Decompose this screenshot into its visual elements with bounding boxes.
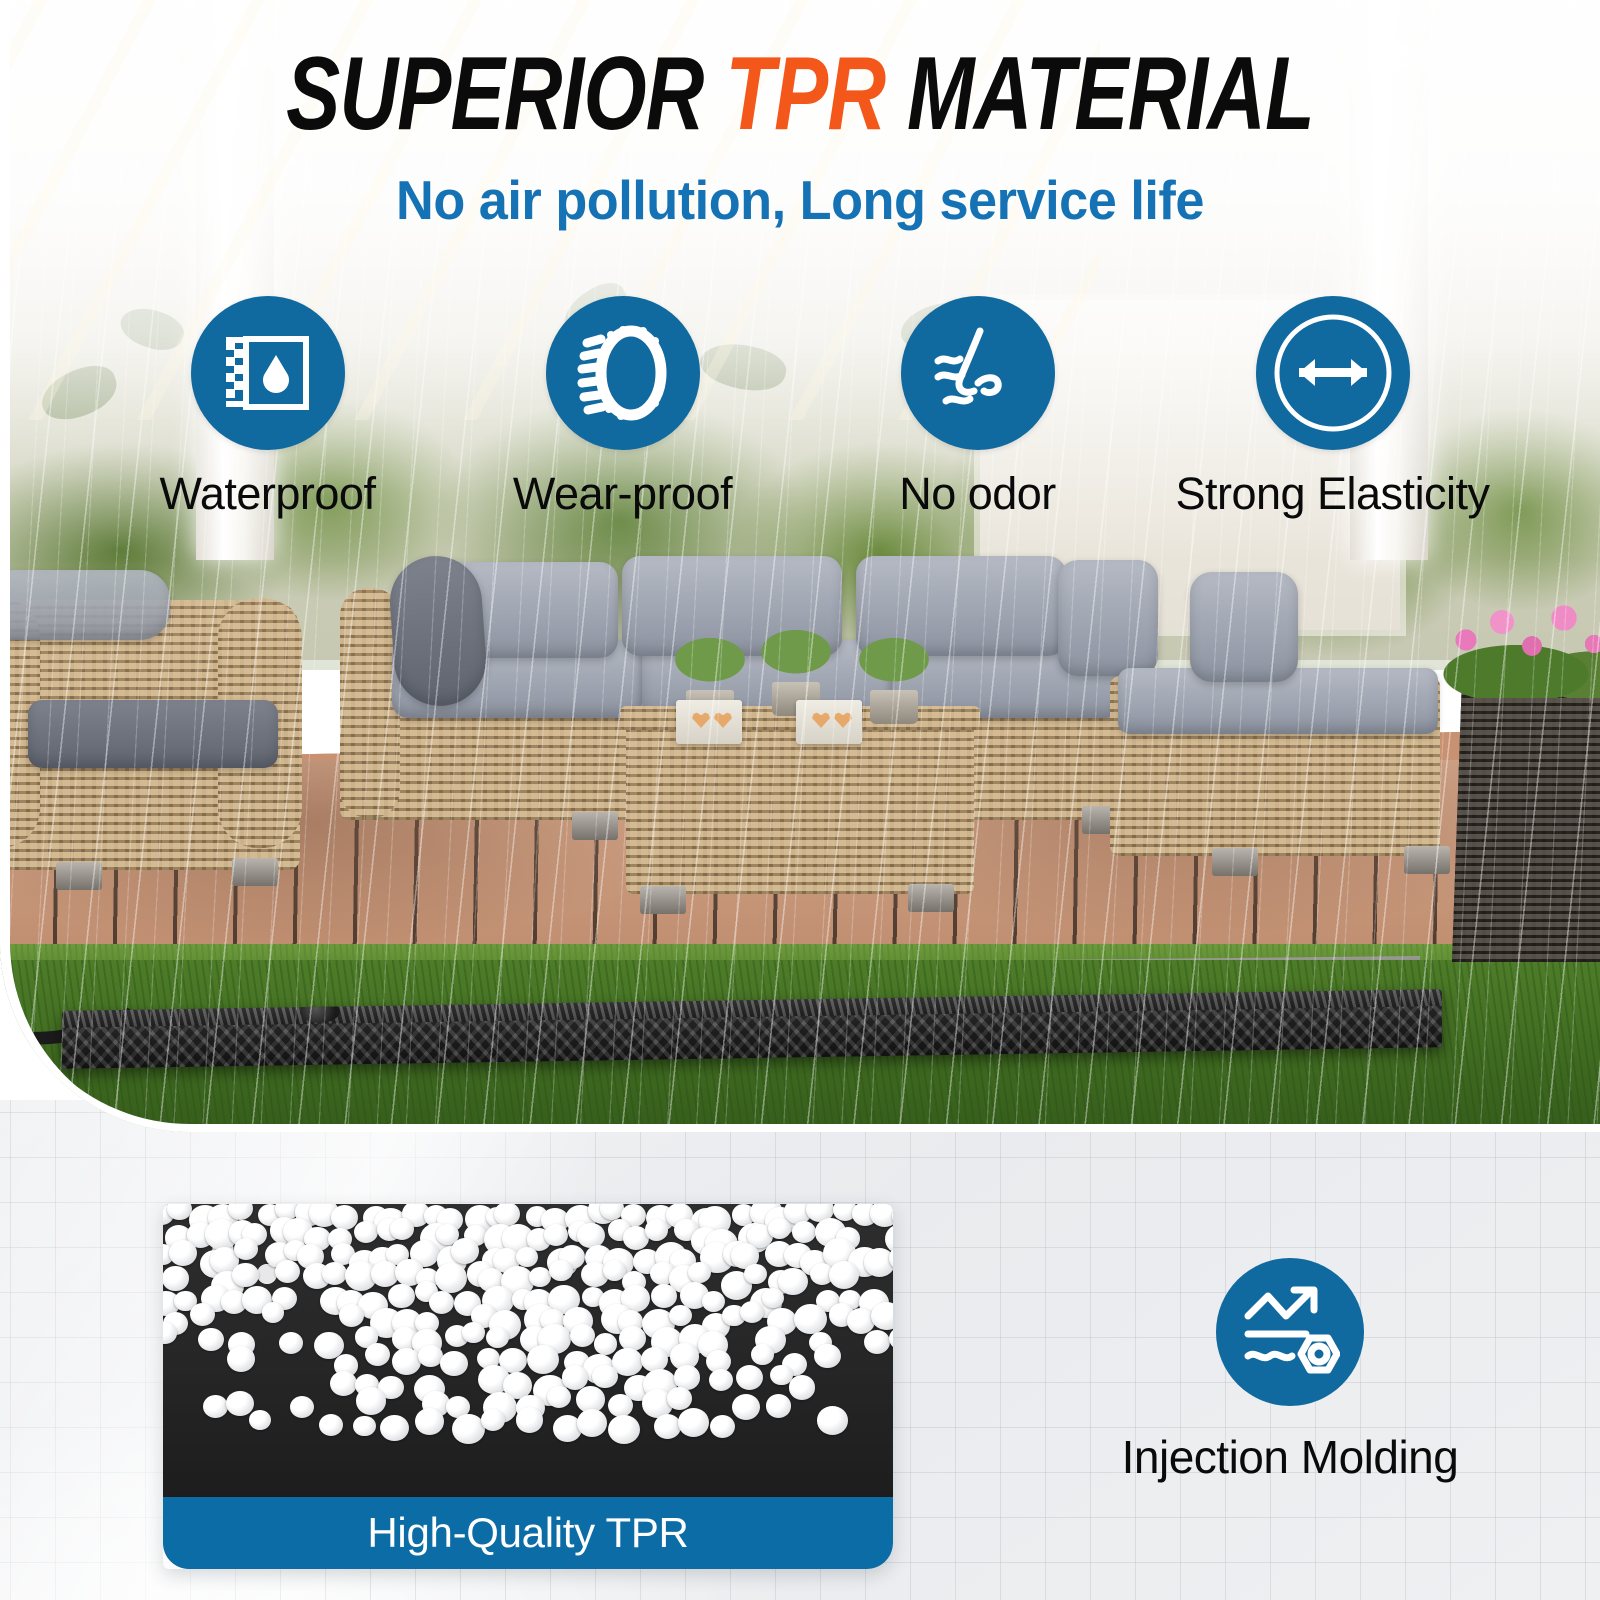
- feature-waterproof: Waterproof: [90, 296, 445, 520]
- feature-strong-elasticity: Strong Elasticity: [1155, 296, 1510, 520]
- process-label: Injection Molding: [1060, 1430, 1520, 1484]
- waterproof-fabric-droplet-icon: [218, 323, 318, 423]
- feature-icon-row: Waterproof: [0, 296, 1600, 520]
- tire-tread-icon: [571, 321, 675, 425]
- page-title: SUPERIOR TPR MATERIAL: [0, 40, 1600, 148]
- feature-label-wear-proof: Wear-proof: [445, 468, 800, 520]
- ottoman-foot-1: [1212, 848, 1258, 876]
- wicker-planter: [1452, 672, 1600, 962]
- armchair-seat-cushion: [28, 700, 278, 768]
- material-caption-text: High-Quality TPR: [367, 1509, 688, 1557]
- armchair-foot-left: [56, 862, 102, 890]
- coffee-table-foot-right: [908, 884, 954, 912]
- sofa-foot-1: [572, 812, 618, 840]
- horizontal-double-arrow-icon: [1267, 307, 1399, 439]
- no-odor-icon-circle: [901, 296, 1055, 450]
- wear-proof-icon-circle: [546, 296, 700, 450]
- sofa-back-cushion-4: [1058, 560, 1158, 676]
- armchair-foot-right: [232, 858, 278, 886]
- process-block-injection-molding: Injection Molding: [1060, 1258, 1520, 1484]
- candle-lantern-2: [796, 700, 862, 744]
- armchair-back-cushion: [0, 570, 170, 640]
- feature-label-strong-elasticity: Strong Elasticity: [1155, 468, 1510, 520]
- coffee-table-foot-left: [640, 886, 686, 914]
- strong-elasticity-icon-circle: [1256, 296, 1410, 450]
- nose-smell-lines-icon: [926, 321, 1030, 425]
- sofa-bolster-pillow: [387, 553, 489, 709]
- pellet-cluster: [163, 1204, 893, 1446]
- tpr-pellets-photo: [163, 1204, 893, 1497]
- material-panel: High-Quality TPR: [163, 1204, 893, 1569]
- ottoman-back-pillow: [1190, 572, 1298, 682]
- poster-canvas: SUPERIOR TPR MATERIAL No air pollution, …: [0, 0, 1600, 1600]
- feature-label-waterproof: Waterproof: [90, 468, 445, 520]
- growth-chart-arrow-with-nut-icon: [1240, 1282, 1340, 1382]
- waterproof-icon-circle: [191, 296, 345, 450]
- feature-wear-proof: Wear-proof: [445, 296, 800, 520]
- injection-molding-icon-circle: [1216, 1258, 1364, 1406]
- title-part-2: MATERIAL: [907, 36, 1314, 152]
- ottoman-foot-2: [1404, 846, 1450, 874]
- page-subtitle: No air pollution, Long service life: [40, 168, 1560, 232]
- material-caption-bar: High-Quality TPR: [163, 1497, 893, 1569]
- feature-no-odor: No odor: [800, 296, 1155, 520]
- candle-lantern-1: [676, 700, 742, 744]
- title-accent-tpr: TPR: [725, 36, 885, 152]
- table-pot-3: [870, 690, 918, 724]
- pink-geranium-flowers: [1436, 588, 1600, 698]
- title-part-1: SUPERIOR: [286, 36, 703, 152]
- feature-label-no-odor: No odor: [800, 468, 1155, 520]
